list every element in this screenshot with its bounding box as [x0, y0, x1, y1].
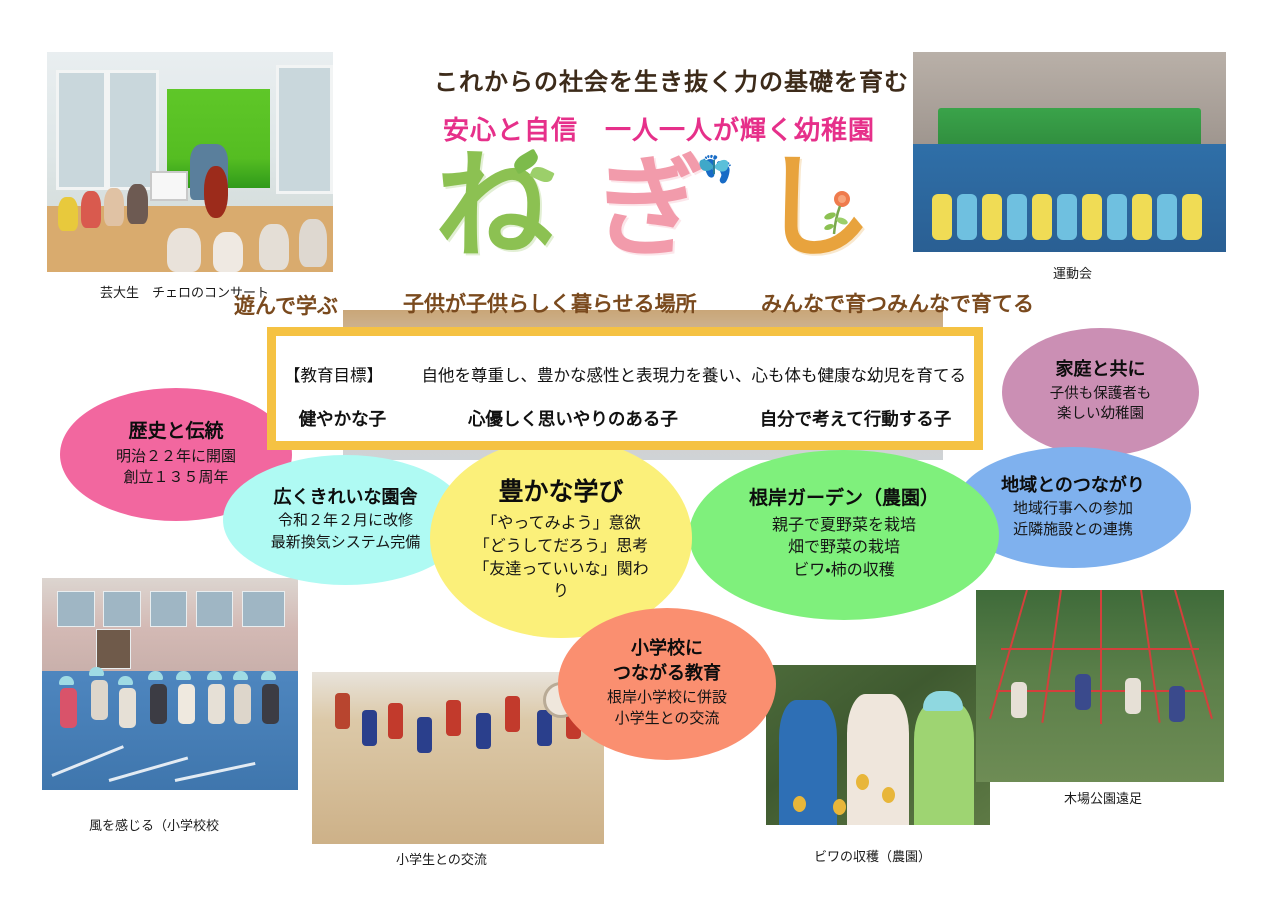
ellipse-line: 小学生との交流 [615, 708, 720, 729]
person-child [1182, 194, 1202, 240]
object-cap [89, 667, 104, 676]
object-cap [261, 671, 276, 680]
person-student [537, 710, 552, 746]
ellipse-title: 歴史と伝統 [128, 421, 223, 443]
decor-track [42, 671, 298, 790]
photo-cello-concert [47, 52, 333, 272]
photo-caption: 運動会 [1053, 263, 1092, 282]
photo-caption: ビワの収穫（農園） [814, 846, 931, 865]
person-child [81, 191, 101, 228]
person-child [262, 684, 279, 724]
ellipse-line: 「友達っていいな」関わ [473, 558, 648, 581]
poster-canvas: 芸大生 チェロのコンサート 運動会 [0, 0, 1279, 904]
person-child [932, 194, 952, 240]
ellipse-elementary-school[interactable]: 小学校に つながる教育 根岸小学校に併設 小学生との交流 [558, 608, 776, 760]
person-child [167, 228, 201, 272]
ellipse-line: 楽しい幼稚園 [1057, 404, 1144, 425]
goal-pillar-2: 心優しく思いやりのある子 [468, 406, 678, 431]
person-child [957, 194, 977, 240]
ellipse-line: 子供も保護者も [1050, 384, 1152, 405]
object-cap [923, 691, 963, 711]
object-cap [207, 671, 222, 680]
person-child [60, 688, 77, 728]
photo-caption: 木場公園遠足 [1064, 788, 1142, 807]
person-child [119, 688, 136, 728]
decor-window [103, 591, 141, 627]
ellipse-garden[interactable]: 根岸ガーデン（農園） 親子で夏野菜を栽培 畑で野菜の栽培 ビワ・柿の収穫 [689, 450, 999, 620]
photo-feeling-the-wind [42, 578, 298, 790]
ellipse-title: つながる教育 [613, 663, 721, 684]
person-child [1125, 678, 1141, 714]
person-child [58, 197, 78, 231]
ellipse-title: 広くきれいな園舎 [274, 487, 418, 508]
ellipse-title: 小学校に [631, 638, 703, 659]
ellipse-line: 明治２２年に開園 [116, 446, 236, 467]
person-child [914, 703, 974, 825]
goal-pillar-1: 健やかな子 [299, 406, 387, 431]
butterfly-icon [697, 154, 731, 180]
person-child [127, 184, 148, 224]
person-child [1169, 686, 1185, 722]
ellipse-title: 根岸ガーデン（農園） [749, 488, 939, 510]
ellipse-title: 豊かな学び [498, 478, 623, 508]
education-goals-statement: 【教育目標】 自他を尊重し、豊かな感性と表現力を養い、心も体も健康な幼児を育てる [276, 362, 974, 386]
person-student [417, 717, 432, 753]
ellipse-line: 親子で夏野菜を栽培 [772, 514, 916, 537]
object-cap [233, 671, 248, 680]
person-child [1157, 194, 1177, 240]
object-cap [176, 671, 191, 680]
ellipse-line: 「どうしてだろう」思考 [474, 535, 649, 558]
object-rope [1100, 590, 1102, 724]
kindergarten-logo: ね ぎ 👣 し [425, 148, 875, 273]
ellipse-line: 「やってみよう」意欲 [481, 512, 640, 535]
person-student [476, 713, 491, 749]
logo-char-ne: ね [435, 148, 553, 266]
person-child [847, 694, 909, 825]
ellipse-line: 畑で野菜の栽培 [788, 536, 900, 559]
education-goals-pillars: 健やかな子 心優しく思いやりのある子 自分で考えて行動する子 [276, 406, 974, 431]
ellipse-line: 創立１３５周年 [123, 467, 228, 488]
person-child [1075, 674, 1091, 710]
person-child [1107, 194, 1127, 240]
person-student [505, 696, 520, 732]
person-child [259, 224, 289, 270]
ellipse-line-clipped: り [553, 580, 569, 598]
goal-pillar-3: 自分で考えて行動する子 [760, 406, 952, 431]
object-cap [118, 676, 133, 685]
object-cello [204, 166, 228, 218]
person-child [150, 684, 167, 724]
photo-loquat-harvest [766, 665, 990, 825]
person-child [104, 188, 124, 226]
ellipse-line: 地域行事への参加 [1013, 498, 1133, 519]
decor-window [56, 70, 108, 190]
object-cap [59, 676, 74, 685]
ellipse-family[interactable]: 家庭と共に 子供も保護者も 楽しい幼稚園 [1002, 328, 1199, 456]
education-goals-label: 【教育目標】 [284, 366, 383, 385]
person-child [91, 680, 108, 720]
person-student [388, 703, 403, 739]
object-loquat-fruit [793, 796, 806, 812]
person-child [779, 700, 837, 825]
ellipse-line: ビワ・柿の収穫 [793, 559, 894, 582]
logo-char-gi: ぎ [595, 154, 705, 264]
tagline-play-learn: 遊んで学ぶ [234, 290, 338, 320]
education-goals-text: 自他を尊重し、豊かな感性と表現力を養い、心も体も健康な幼児を育てる [422, 366, 967, 385]
person-child [1011, 682, 1027, 718]
person-child [982, 194, 1002, 240]
photo-park-excursion [976, 590, 1224, 782]
photo-caption: 小学生との交流 [396, 849, 487, 868]
headline-top: これからの社会を生き抜く力の基礎を育む [434, 62, 909, 97]
person-student [362, 710, 377, 746]
ellipse-title: 地域とのつながり [1001, 475, 1145, 496]
decor-window [242, 591, 285, 627]
person-child [299, 219, 327, 267]
person-child [234, 684, 251, 724]
photo-sports-day [913, 52, 1226, 252]
tagline-grow-together: みんなで育つみんなで育てる [761, 288, 1034, 318]
ellipse-line: 根岸小学校に併設 [607, 687, 727, 708]
tagline-childlike: 子供が子供らしく暮らせる場所 [403, 288, 697, 318]
person-child [213, 232, 243, 272]
person-child [1132, 194, 1152, 240]
person-child [208, 684, 225, 724]
object-music-stand [150, 171, 188, 201]
photo-caption: 風を感じる（小学校校 [89, 815, 219, 834]
object-loquat-fruit [856, 774, 869, 790]
object-cap [148, 671, 163, 680]
decor-window [276, 65, 333, 194]
person-child [1082, 194, 1102, 240]
person-child [1032, 194, 1052, 240]
flower-icon [823, 190, 853, 236]
logo-char-shi: し [760, 152, 872, 264]
person-student [446, 700, 461, 736]
decor-door [96, 629, 131, 669]
person-student [335, 693, 350, 729]
ellipse-line: 令和２年２月に改修 [278, 510, 413, 531]
education-goals-box: 【教育目標】 自他を尊重し、豊かな感性と表現力を養い、心も体も健康な幼児を育てる… [267, 327, 983, 450]
ellipse-line: 最新換気システム完備 [271, 532, 421, 553]
decor-window [196, 591, 234, 627]
person-child [178, 684, 195, 724]
ellipse-line: 近隣施設との連携 [1013, 519, 1133, 540]
person-child [1007, 194, 1027, 240]
decor-window [150, 591, 188, 627]
ellipse-title: 家庭と共に [1056, 359, 1146, 380]
object-rope [1001, 648, 1199, 650]
person-child [1057, 194, 1077, 240]
decor-window [57, 591, 95, 627]
